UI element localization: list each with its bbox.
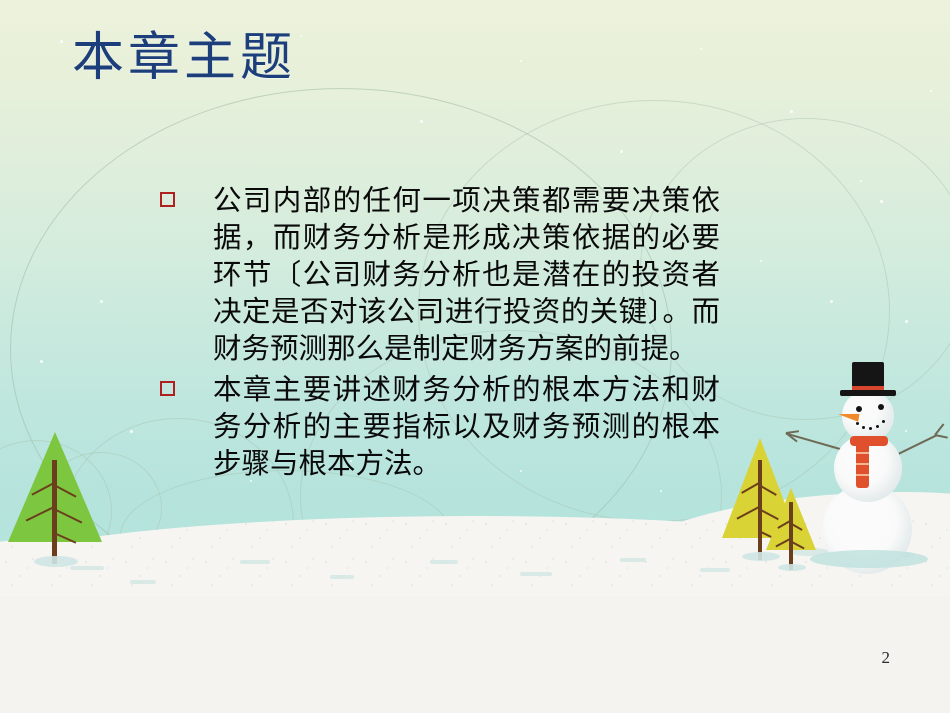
- snowman-hat-brim: [840, 390, 896, 396]
- snowman-scarf-stripe: [856, 463, 869, 465]
- snow-dash: [130, 580, 156, 584]
- page-number: 2: [882, 648, 891, 668]
- snowman-scarf-tail: [856, 444, 869, 488]
- snowman-mouth-dot: [856, 422, 859, 425]
- list-item[interactable]: 公司内部的任何一项决策都需要决策依据，而财务分析是形成决策依据的必要环节〔公司财…: [160, 183, 720, 368]
- snowman-eye-right: [878, 404, 884, 410]
- bullet-square-icon: [160, 381, 175, 396]
- snowman: [792, 364, 942, 579]
- tree-trunk: [52, 460, 57, 564]
- bullet-square-icon: [160, 192, 175, 207]
- snowman-mouth-dot: [876, 425, 879, 428]
- snow-dash: [620, 558, 646, 562]
- snowman-scarf-stripe: [856, 452, 869, 454]
- slide-canvas: 本章主题 公司内部的任何一项决策都需要决策依据，而财务分析是形成决策依据的必要环…: [0, 0, 950, 596]
- snowman-scarf-stripe: [856, 474, 869, 476]
- snowman-snow-base: [810, 550, 928, 568]
- snowman-mouth-dot: [882, 420, 885, 423]
- snow-dash: [430, 560, 458, 564]
- list-item[interactable]: 本章主要讲述财务分析的根本方法和财务分析的主要指标以及财务预测的根本步骤与根本方…: [160, 372, 720, 483]
- page-title: 本章主题: [72, 30, 296, 87]
- bullet-list: 公司内部的任何一项决策都需要决策依据，而财务分析是形成决策依据的必要环节〔公司财…: [160, 183, 720, 487]
- snowman-mouth-dot: [869, 427, 872, 430]
- tree-snow-base: [34, 556, 78, 567]
- bullet-text: 本章主要讲述财务分析的根本方法和财务分析的主要指标以及财务预测的根本步骤与根本方…: [213, 372, 720, 483]
- snow-dash: [700, 568, 730, 572]
- snow-dash: [330, 575, 354, 579]
- snow-dash: [70, 566, 104, 570]
- snow-dash: [520, 572, 552, 576]
- snowman-mouth-dot: [862, 426, 865, 429]
- snowman-eye-left: [856, 406, 862, 412]
- bullet-text: 公司内部的任何一项决策都需要决策依据，而财务分析是形成决策依据的必要环节〔公司财…: [213, 183, 720, 368]
- snow-dash: [240, 560, 270, 564]
- pine-tree-left: [2, 432, 114, 562]
